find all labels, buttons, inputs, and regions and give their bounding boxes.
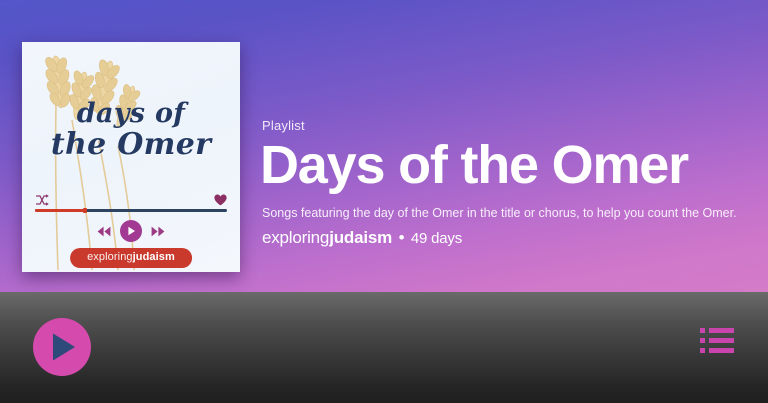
album-art-transport-controls	[22, 220, 240, 242]
badge-brand-light: exploring	[87, 251, 133, 263]
playlist-description: Songs featuring the day of the Omer in t…	[262, 206, 752, 222]
playlist-byline: exploringjudaism • 49 days	[262, 228, 752, 248]
album-art[interactable]: days of the Omer	[22, 42, 240, 272]
queue-bullet	[700, 328, 705, 333]
shuffle-icon[interactable]	[35, 194, 49, 206]
album-art-progress-bar[interactable]	[35, 209, 227, 212]
badge-brand-bold: judaism	[133, 251, 175, 263]
queue-row	[700, 348, 734, 353]
album-art-title-line1: days of	[22, 100, 240, 128]
album-art-title: days of the Omer	[22, 100, 240, 160]
progress-fill	[35, 209, 85, 212]
rewind-icon[interactable]	[97, 226, 111, 237]
playlist-embed-screen: days of the Omer	[0, 0, 768, 403]
queue-bullet	[700, 348, 705, 353]
fast-forward-icon[interactable]	[151, 226, 165, 237]
queue-bar	[709, 348, 734, 353]
queue-list-icon[interactable]	[700, 328, 734, 355]
player-bar	[0, 292, 768, 403]
heart-icon[interactable]	[214, 194, 227, 206]
byline-brand-bold: judaism	[329, 228, 392, 247]
byline-separator: •	[399, 228, 405, 247]
album-art-canvas: days of the Omer	[22, 42, 240, 272]
playlist-kicker: Playlist	[262, 118, 752, 133]
play-button[interactable]	[33, 318, 91, 376]
album-art-icon-row	[35, 194, 227, 208]
queue-bar	[709, 328, 734, 333]
album-art-brand-badge: exploringjudaism	[70, 248, 192, 268]
queue-bullet	[700, 338, 705, 343]
queue-bar	[709, 338, 734, 343]
play-icon[interactable]	[120, 220, 142, 242]
playlist-meta: Playlist Days of the Omer Songs featurin…	[260, 118, 752, 248]
queue-row	[700, 338, 734, 343]
byline-track-count: 49 days	[411, 230, 462, 247]
progress-knob[interactable]	[83, 208, 87, 213]
playlist-header: days of the Omer	[0, 0, 768, 292]
album-art-title-line2: the Omer	[22, 130, 240, 161]
page-title: Days of the Omer	[260, 138, 752, 193]
queue-row	[700, 328, 734, 333]
byline-brand-light: exploring	[262, 228, 329, 247]
